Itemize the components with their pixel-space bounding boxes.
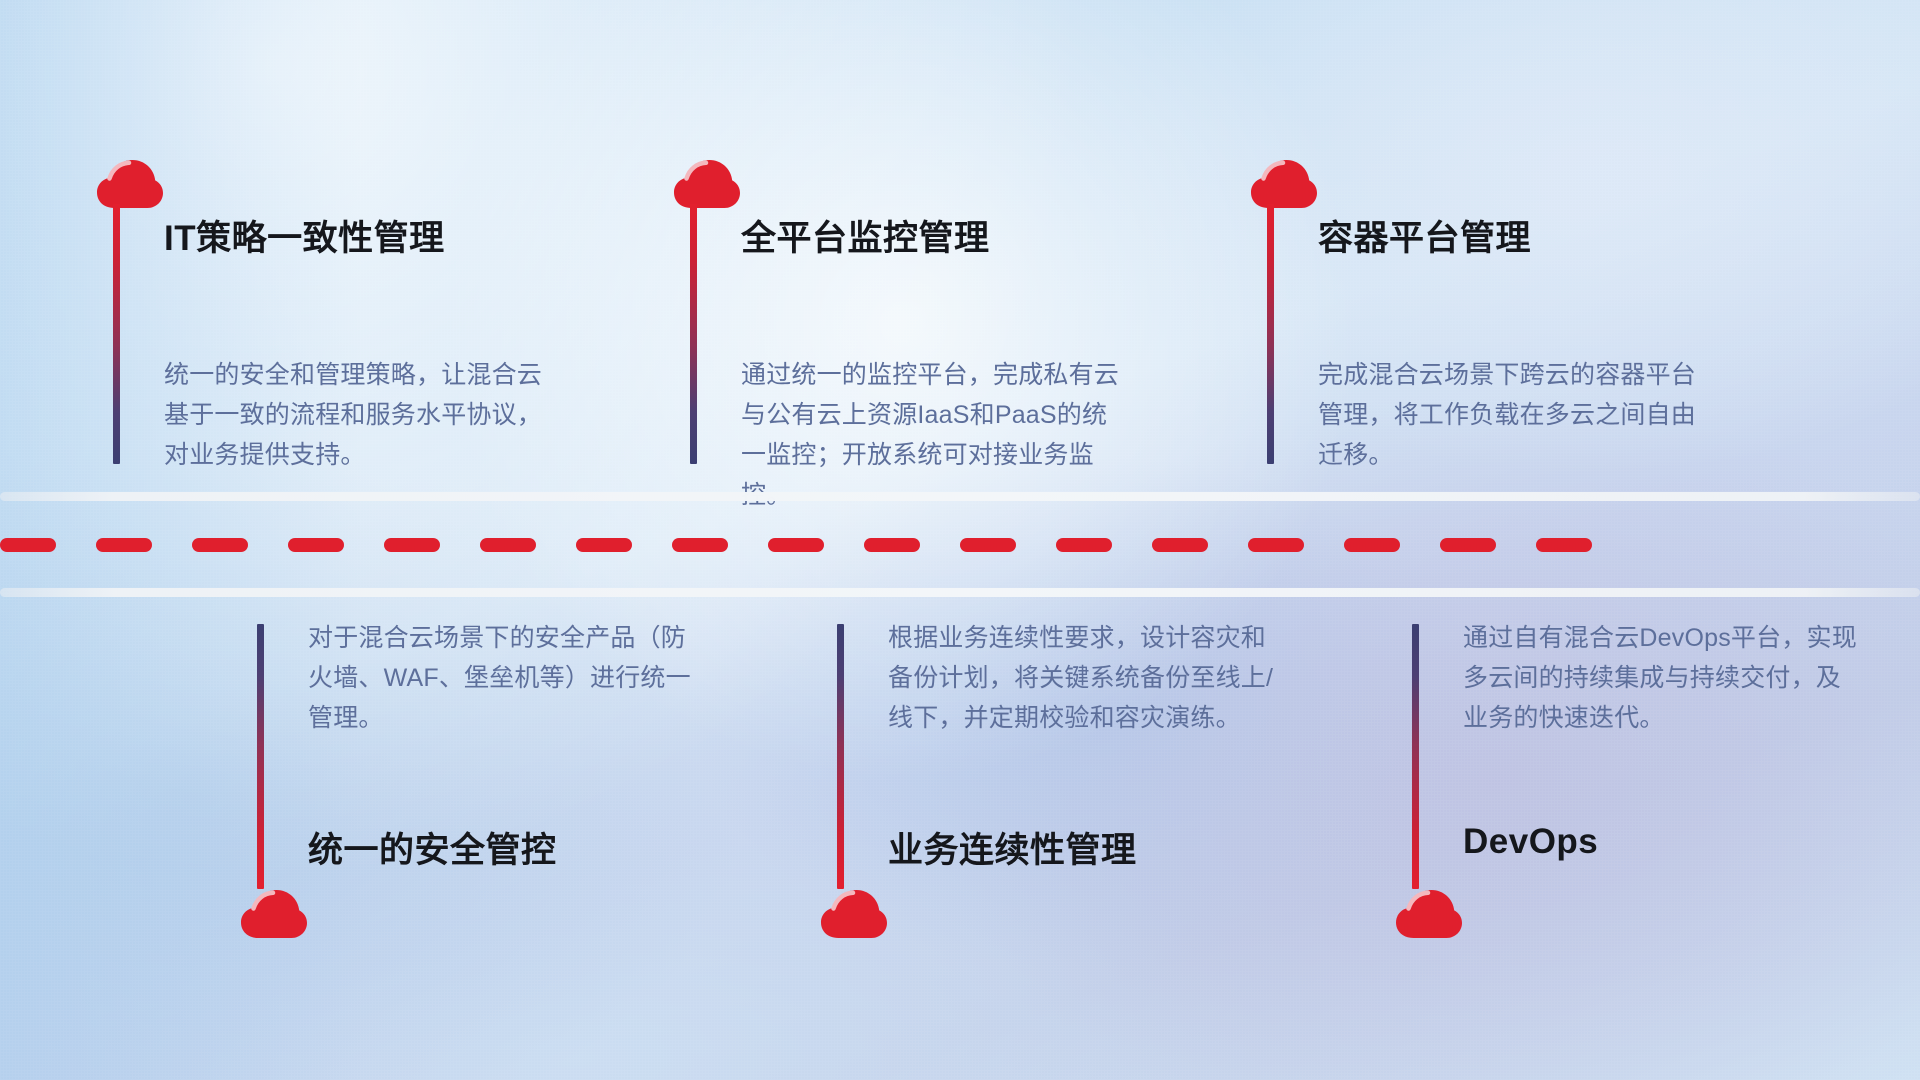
- connector-line: [1267, 204, 1274, 464]
- road-dash-icon: [96, 538, 152, 552]
- feature-heading: 统一的安全管控: [308, 822, 557, 873]
- cloud-icon: [1250, 158, 1318, 210]
- road-dash-icon: [480, 538, 536, 552]
- bottom-row: 对于混合云场景下的安全产品（防火墙、WAF、堡垒机等）进行统一管理。 统一的安全…: [0, 600, 1920, 1080]
- cloud-icon: [96, 158, 164, 210]
- feature-heading: DevOps: [1463, 822, 1598, 862]
- feature-description: 完成混合云场景下跨云的容器平台管理，将工作负载在多云之间自由迁移。: [1318, 355, 1708, 475]
- road-dash-icon: [960, 538, 1016, 552]
- feature-description: 统一的安全和管理策略，让混合云基于一致的流程和服务水平协议，对业务提供支持。: [164, 355, 554, 475]
- road-dash-icon: [1440, 538, 1496, 552]
- road-dash-icon: [1344, 538, 1400, 552]
- feature-heading: 业务连续性管理: [888, 822, 1137, 873]
- road-edge-bottom: [0, 588, 1920, 597]
- road-dash-icon: [192, 538, 248, 552]
- connector-line: [1412, 624, 1419, 889]
- road-dash-icon: [1536, 538, 1592, 552]
- road-edge-top: [0, 492, 1920, 501]
- road-dash-icon: [864, 538, 920, 552]
- feature-heading: 容器平台管理: [1318, 210, 1531, 261]
- road-dash-icon: [576, 538, 632, 552]
- feature-description: 对于混合云场景下的安全产品（防火墙、WAF、堡垒机等）进行统一管理。: [308, 618, 708, 738]
- feature-description: 通过统一的监控平台，完成私有云与公有云上资源IaaS和PaaS的统一监控；开放系…: [741, 355, 1131, 515]
- cloud-icon: [820, 888, 888, 940]
- road-dash-icon: [768, 538, 824, 552]
- cloud-icon: [673, 158, 741, 210]
- cloud-icon: [1395, 888, 1463, 940]
- connector-line: [257, 624, 264, 889]
- road-dash-icon: [1248, 538, 1304, 552]
- cloud-icon: [240, 888, 308, 940]
- feature-description: 通过自有混合云DevOps平台，实现多云间的持续集成与持续交付，及业务的快速迭代…: [1463, 618, 1863, 738]
- road-dash-icon: [1152, 538, 1208, 552]
- road-dash-icon: [288, 538, 344, 552]
- feature-heading: 全平台监控管理: [741, 210, 990, 261]
- road-dash-icon: [0, 538, 56, 552]
- connector-line: [837, 624, 844, 889]
- feature-heading: IT策略一致性管理: [164, 210, 445, 261]
- top-row: IT策略一致性管理 统一的安全和管理策略，让混合云基于一致的流程和服务水平协议，…: [0, 0, 1920, 500]
- road-dash-icon: [384, 538, 440, 552]
- road-dashes: [0, 538, 1920, 552]
- road-dash-icon: [1056, 538, 1112, 552]
- connector-line: [690, 204, 697, 464]
- connector-line: [113, 204, 120, 464]
- road-dash-icon: [672, 538, 728, 552]
- feature-description: 根据业务连续性要求，设计容灾和备份计划，将关键系统备份至线上/线下，并定期校验和…: [888, 618, 1288, 738]
